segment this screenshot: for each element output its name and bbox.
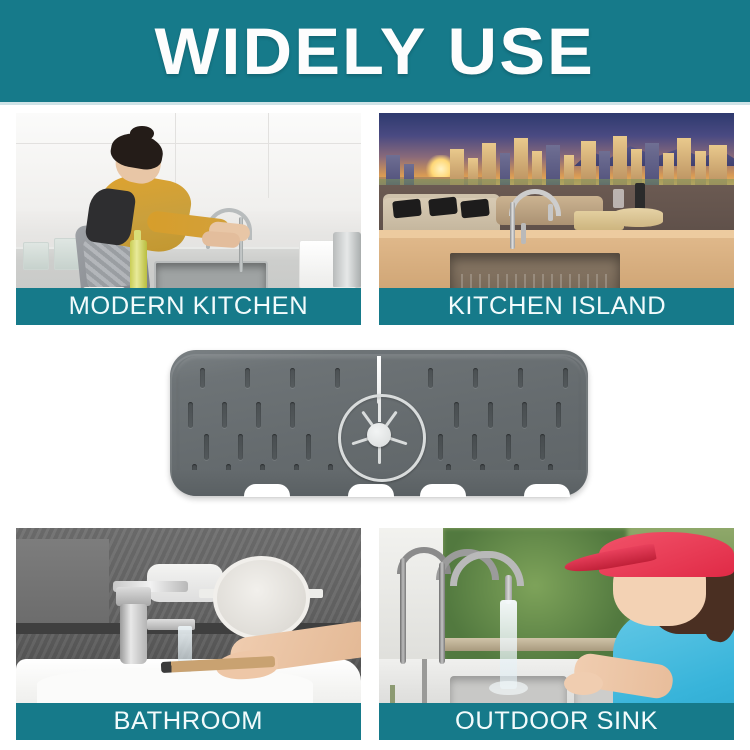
page-title: WIDELY USE — [155, 18, 595, 84]
header-underline — [0, 102, 750, 105]
mat-groove — [472, 434, 477, 460]
panel-modern-kitchen[interactable]: MODERN KITCHEN — [16, 113, 361, 325]
mat-lip-notch — [348, 484, 394, 497]
mat-groove — [428, 368, 433, 388]
mat-groove — [200, 368, 205, 388]
mat-groove — [272, 434, 277, 460]
mat-groove — [540, 434, 545, 460]
drain-hub — [367, 423, 391, 447]
drain-hole — [338, 394, 420, 476]
mat-groove — [245, 368, 250, 388]
caption-kitchen-island: KITCHEN ISLAND — [379, 288, 734, 325]
mat-groove — [506, 434, 511, 460]
mat-lip-notch — [524, 484, 570, 497]
panel-outdoor-sink[interactable]: OUTDOOR SINK — [379, 528, 734, 740]
mat-groove — [256, 402, 261, 428]
mat-groove — [204, 434, 209, 460]
mat-groove — [222, 402, 227, 428]
mat-groove — [238, 434, 243, 460]
mat-lip-notch — [420, 484, 466, 497]
mat-groove — [473, 368, 478, 388]
mat-body — [170, 350, 588, 496]
mat-groove — [488, 402, 493, 428]
panel-kitchen-island[interactable]: KITCHEN ISLAND — [379, 113, 734, 325]
mat-lip-notch — [244, 484, 290, 497]
mat-groove — [563, 368, 568, 388]
panel-bathroom[interactable]: BATHROOM — [16, 528, 361, 740]
mat-groove — [454, 402, 459, 428]
caption-modern-kitchen: MODERN KITCHEN — [16, 288, 361, 325]
mat-groove — [188, 402, 193, 428]
mat-groove — [438, 434, 443, 460]
mat-groove — [335, 368, 340, 388]
header-banner: WIDELY USE — [0, 0, 750, 102]
mat-groove — [290, 402, 295, 428]
caption-text: BATHROOM — [114, 707, 264, 736]
product-image-faucet-mat — [170, 346, 588, 508]
caption-bathroom: BATHROOM — [16, 703, 361, 740]
caption-text: OUTDOOR SINK — [455, 707, 658, 736]
mat-groove — [290, 368, 295, 388]
infographic-page: WIDELY USE — [0, 0, 750, 750]
caption-text: KITCHEN ISLAND — [447, 292, 665, 321]
mat-groove — [518, 368, 523, 388]
caption-text: MODERN KITCHEN — [69, 292, 308, 321]
mat-groove — [556, 402, 561, 428]
mat-groove — [522, 402, 527, 428]
caption-outdoor-sink: OUTDOOR SINK — [379, 703, 734, 740]
mat-groove — [306, 434, 311, 460]
